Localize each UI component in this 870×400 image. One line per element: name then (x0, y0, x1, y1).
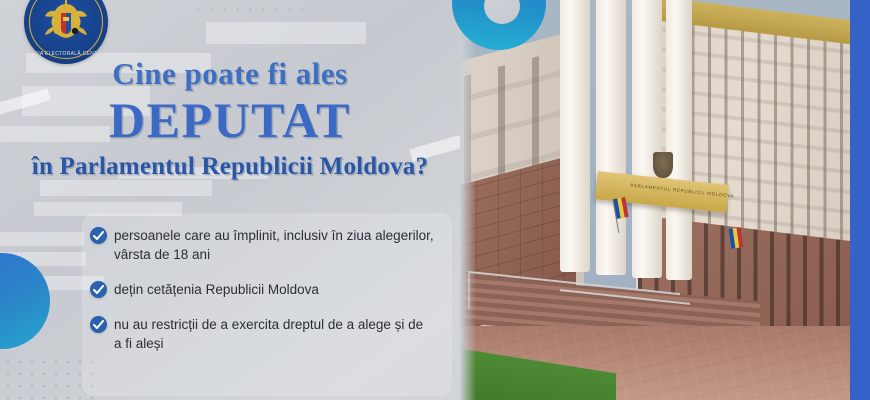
requirements-card: persoanele care au împlinit, inclusiv în… (82, 213, 452, 396)
title-line-2: DEPUTAT (0, 95, 460, 145)
parliament-building-photo: PARLAMENTUL REPUBLICII MOLDOVA (460, 0, 850, 400)
column (596, 0, 626, 275)
title-line-3: în Parlamentul Republicii Moldova? (0, 154, 460, 179)
bg-rect (40, 180, 212, 196)
list-item: persoanele care au împlinit, inclusiv în… (82, 226, 452, 264)
list-item-label: nu au restricții de a exercita dreptul d… (114, 315, 434, 353)
building-sign-text: PARLAMENTUL REPUBLICII MOLDOVA (630, 183, 734, 199)
bg-rect (206, 22, 366, 44)
bg-rect (0, 252, 86, 266)
state-coat-of-arms (653, 152, 673, 178)
cec-logo: COMISIA ELECTORALĂ CENTRALĂ (24, 0, 108, 64)
column (632, 0, 662, 278)
bg-rect (0, 232, 84, 246)
gradient-circle-left (0, 253, 50, 349)
dot-pattern-bottom-left (2, 356, 94, 400)
photo-left-fade (460, 0, 476, 400)
column (666, 0, 692, 280)
blue-edge-band (850, 0, 870, 400)
poster-canvas: PARLAMENTUL REPUBLICII MOLDOVA (0, 0, 870, 400)
check-circle-icon (90, 281, 107, 298)
check-circle-icon (90, 316, 107, 333)
moldova-flag (729, 227, 744, 248)
logo-text: COMISIA ELECTORALĂ CENTRALĂ (24, 0, 108, 64)
dot-pattern-top (192, 3, 310, 11)
check-circle-icon (90, 227, 107, 244)
list-item-label: dețin cetățenia Republicii Moldova (114, 280, 434, 299)
list-item: dețin cetățenia Republicii Moldova (82, 280, 452, 299)
list-item: nu au restricții de a exercita dreptul d… (82, 315, 452, 353)
title-line-1: Cine poate fi ales (0, 58, 460, 89)
list-item-label: persoanele care au împlinit, inclusiv în… (114, 226, 434, 264)
logo-text-bottom: COMISIA ELECTORALĂ CENTRALĂ (24, 51, 108, 57)
title-block: Cine poate fi ales DEPUTAT în Parlamentu… (0, 58, 460, 179)
column (560, 0, 590, 272)
